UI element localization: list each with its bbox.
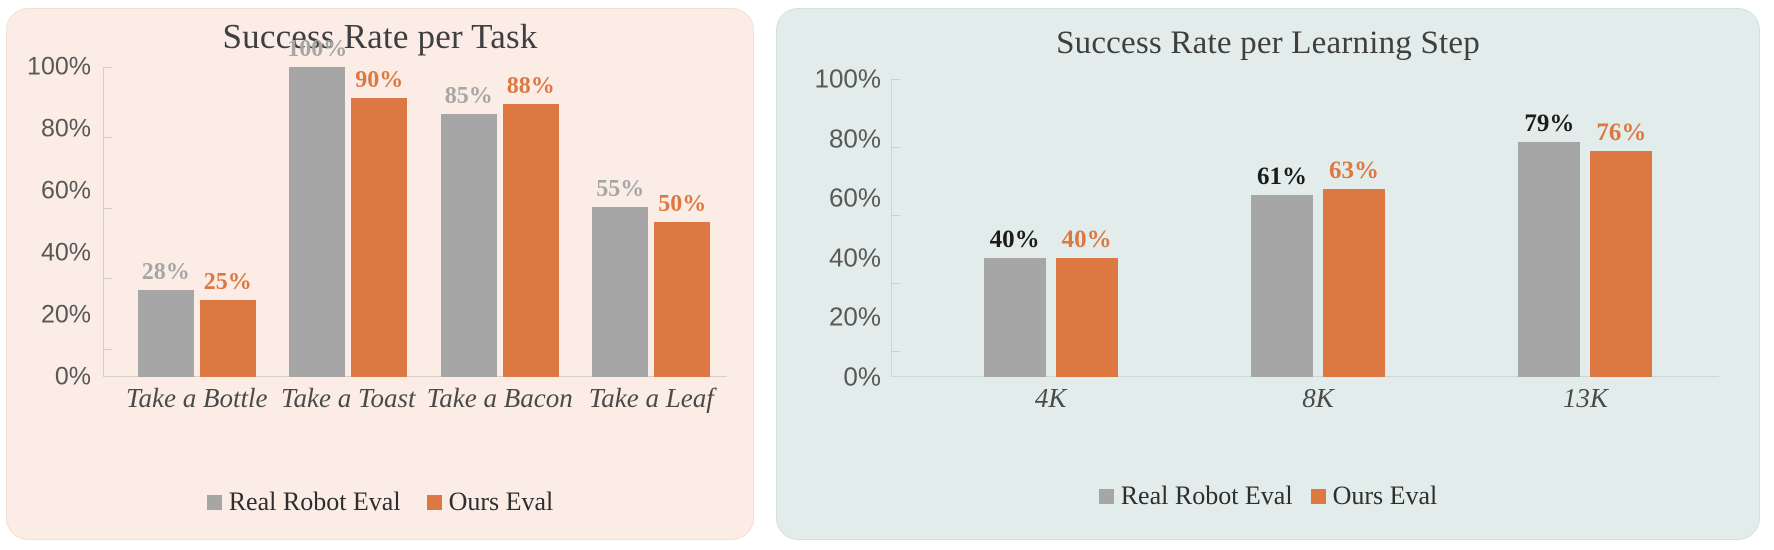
legend-label-ours-eval: Ours Eval	[1333, 481, 1438, 511]
bar-value-label: 63%	[1329, 157, 1379, 185]
y-axis-tick-label: 40%	[41, 239, 91, 268]
y-axis-tick-label: 60%	[829, 183, 881, 214]
right-y-axis: 100%80%60%40%20%0%	[805, 79, 889, 377]
bar-rect[interactable]	[200, 300, 256, 378]
bar-rect[interactable]	[592, 207, 648, 378]
bar-value-label: 61%	[1257, 163, 1307, 191]
bar-group: 28%25%	[121, 67, 273, 377]
bar-ours-eval[interactable]: 90%	[351, 67, 407, 377]
y-axis-tick-label: 40%	[829, 242, 881, 273]
bar-value-label: 90%	[355, 67, 403, 94]
bar-real-robot-eval[interactable]: 85%	[441, 67, 497, 377]
legend-swatch-orange-icon	[1311, 489, 1326, 504]
right-y-axis-line	[891, 79, 892, 377]
bar-value-label: 55%	[596, 176, 644, 203]
bar-ours-eval[interactable]: 63%	[1323, 79, 1385, 377]
legend-item-real-robot-eval[interactable]: Real Robot Eval	[1099, 481, 1293, 511]
right-legend: Real Robot Eval Ours Eval	[777, 481, 1759, 511]
bar-group: 61%63%	[1184, 79, 1451, 377]
left-plot-area: 100%80%60%40%20%0% 28%25%100%90%85%88%55…	[7, 67, 753, 419]
bar-rect[interactable]	[289, 67, 345, 377]
x-axis-category-label: Take a Bacon	[424, 383, 576, 414]
legend-label-real-robot-eval: Real Robot Eval	[1121, 481, 1293, 511]
bar-value-label: 100%	[287, 36, 347, 63]
y-axis-tick-label: 20%	[41, 301, 91, 330]
x-axis-category-label: 4K	[917, 383, 1184, 414]
legend-item-ours-eval[interactable]: Ours Eval	[1311, 481, 1438, 511]
bar-value-label: 76%	[1596, 119, 1646, 147]
x-axis-category-label: Take a Leaf	[576, 383, 728, 414]
bar-rect[interactable]	[1251, 195, 1313, 377]
legend-swatch-gray-icon	[1099, 489, 1114, 504]
panel-success-rate-per-learning-step: Success Rate per Learning Step 100%80%60…	[776, 8, 1760, 540]
bar-ours-eval[interactable]: 50%	[654, 67, 710, 377]
y-axis-tickmark	[103, 137, 112, 138]
bar-real-robot-eval[interactable]: 100%	[289, 67, 345, 377]
bar-group: 79%76%	[1452, 79, 1719, 377]
y-axis-tick-label: 20%	[829, 302, 881, 333]
right-axis-area: 100%80%60%40%20%0% 40%40%61%63%79%76% 4K…	[805, 79, 1719, 419]
bar-real-robot-eval[interactable]: 55%	[592, 67, 648, 377]
bar-rect[interactable]	[441, 114, 497, 378]
y-axis-tick-label: 0%	[55, 363, 91, 392]
bar-rect[interactable]	[654, 222, 710, 377]
bar-value-label: 40%	[1062, 226, 1112, 254]
bar-value-label: 88%	[507, 73, 555, 100]
x-axis-category-label: Take a Toast	[273, 383, 425, 414]
panel-success-rate-per-task: Success Rate per Task 100%80%60%40%20%0%…	[6, 8, 754, 540]
right-chart-title: Success Rate per Learning Step	[777, 9, 1759, 62]
x-axis-category-label: Take a Bottle	[121, 383, 273, 414]
bar-real-robot-eval[interactable]: 28%	[138, 67, 194, 377]
x-axis-category-label: 8K	[1184, 383, 1451, 414]
bar-value-label: 40%	[990, 226, 1040, 254]
legend-swatch-orange-icon	[427, 495, 442, 510]
bar-real-robot-eval[interactable]: 79%	[1518, 79, 1580, 377]
bar-real-robot-eval[interactable]: 61%	[1251, 79, 1313, 377]
y-axis-tick-label: 60%	[41, 177, 91, 206]
bar-value-label: 28%	[142, 259, 190, 286]
bar-value-label: 85%	[445, 83, 493, 110]
y-axis-tickmark	[891, 215, 900, 216]
y-axis-tick-label: 0%	[843, 362, 881, 393]
legend-label-real-robot-eval: Real Robot Eval	[229, 487, 401, 517]
bar-rect[interactable]	[1590, 151, 1652, 377]
bar-value-label: 25%	[204, 269, 252, 296]
left-x-axis-labels: Take a BottleTake a ToastTake a BaconTak…	[121, 377, 727, 419]
y-axis-tickmark	[891, 79, 900, 80]
bar-rect[interactable]	[984, 258, 1046, 377]
y-axis-tick-label: 100%	[815, 64, 882, 95]
left-legend: Real Robot Eval Ours Eval	[7, 487, 753, 517]
bar-group: 55%50%	[576, 67, 728, 377]
y-axis-tickmark	[103, 208, 112, 209]
bar-value-label: 79%	[1524, 110, 1574, 138]
bar-ours-eval[interactable]: 25%	[200, 67, 256, 377]
legend-item-real-robot-eval[interactable]: Real Robot Eval	[207, 487, 401, 517]
bar-rect[interactable]	[1518, 142, 1580, 377]
x-axis-category-label: 13K	[1452, 383, 1719, 414]
right-bars-container: 40%40%61%63%79%76%	[917, 79, 1719, 377]
right-x-axis-labels: 4K8K13K	[917, 377, 1719, 419]
bar-group: 85%88%	[424, 67, 576, 377]
bar-value-label: 50%	[658, 191, 706, 218]
left-y-axis-line	[103, 67, 104, 377]
legend-swatch-gray-icon	[207, 495, 222, 510]
y-axis-tick-label: 100%	[27, 53, 91, 82]
bar-rect[interactable]	[138, 290, 194, 377]
y-axis-tickmark	[891, 283, 900, 284]
bar-group: 40%40%	[917, 79, 1184, 377]
left-axis-area: 100%80%60%40%20%0% 28%25%100%90%85%88%55…	[25, 67, 727, 419]
bar-rect[interactable]	[503, 104, 559, 377]
bar-rect[interactable]	[1056, 258, 1118, 377]
bar-ours-eval[interactable]: 76%	[1590, 79, 1652, 377]
left-bars-container: 28%25%100%90%85%88%55%50%	[121, 67, 727, 377]
left-chart-title: Success Rate per Task	[7, 9, 753, 57]
bar-ours-eval[interactable]: 88%	[503, 67, 559, 377]
bar-rect[interactable]	[1323, 189, 1385, 377]
bar-group: 100%90%	[273, 67, 425, 377]
y-axis-tick-label: 80%	[41, 115, 91, 144]
legend-item-ours-eval[interactable]: Ours Eval	[427, 487, 554, 517]
right-plot-area: 100%80%60%40%20%0% 40%40%61%63%79%76% 4K…	[777, 79, 1759, 419]
y-axis-tickmark	[103, 349, 112, 350]
bar-real-robot-eval[interactable]: 40%	[984, 79, 1046, 377]
y-axis-tickmark	[891, 147, 900, 148]
y-axis-tick-label: 80%	[829, 123, 881, 154]
legend-label-ours-eval: Ours Eval	[449, 487, 554, 517]
bar-rect[interactable]	[351, 98, 407, 377]
bar-ours-eval[interactable]: 40%	[1056, 79, 1118, 377]
y-axis-tickmark	[891, 351, 900, 352]
left-y-axis: 100%80%60%40%20%0%	[25, 67, 99, 377]
y-axis-tickmark	[103, 67, 112, 68]
y-axis-tickmark	[103, 278, 112, 279]
charts-board: Success Rate per Task 100%80%60%40%20%0%…	[0, 0, 1774, 550]
